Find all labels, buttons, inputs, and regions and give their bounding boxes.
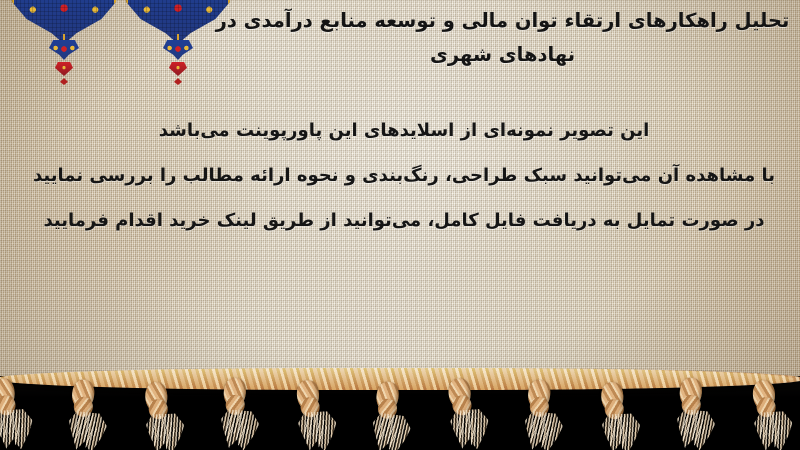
fringe-tassel bbox=[593, 381, 641, 450]
medallion-pendant-medium-icon bbox=[55, 62, 73, 76]
fringe-tassel bbox=[137, 381, 185, 450]
fringe-tassel bbox=[0, 376, 34, 449]
fringe-tassel bbox=[667, 376, 719, 450]
fringe-tassel bbox=[211, 376, 263, 450]
fringe-tassel bbox=[288, 379, 338, 450]
medallion-pendant-large-icon bbox=[163, 40, 193, 60]
slide-body-text: این تصویر نمونه‌ای از اسلایدهای این پاور… bbox=[20, 108, 788, 243]
fringe-tassel bbox=[744, 379, 794, 450]
carpet-border-ornaments bbox=[0, 0, 240, 105]
slide-title: تحلیل راهکارهای ارتقاء توان مالی و توسعه… bbox=[215, 4, 790, 72]
body-line-sample-notice: این تصویر نمونه‌ای از اسلایدهای این پاور… bbox=[20, 108, 788, 153]
medallion-pendant-large-icon bbox=[49, 40, 79, 60]
body-line-purchase-link: در صورت تمایل به دریافت فایل کامل، می‌تو… bbox=[20, 198, 788, 243]
slide-title-line-2: نهادهای شهری bbox=[430, 43, 575, 66]
medallion-pendant-small-icon bbox=[60, 78, 68, 85]
body-line-design-review: با مشاهده آن می‌توانید سبک طراحی، رنگ‌بن… bbox=[20, 153, 788, 198]
fringe-tassel bbox=[58, 378, 111, 450]
medallion-pendant-medium-icon bbox=[169, 62, 187, 76]
slide-title-line-1: تحلیل راهکارهای ارتقاء توان مالی و توسعه… bbox=[216, 9, 790, 32]
slide-canvas: تحلیل راهکارهای ارتقاء توان مالی و توسعه… bbox=[0, 0, 800, 450]
medallion-pendant-small-icon bbox=[174, 78, 182, 85]
fringe-tassel bbox=[514, 378, 567, 450]
fringe-tassel bbox=[362, 379, 416, 450]
carpet-fringe bbox=[0, 368, 800, 450]
carpet-medallion-left bbox=[12, 0, 116, 62]
fringe-tassel bbox=[440, 376, 491, 449]
